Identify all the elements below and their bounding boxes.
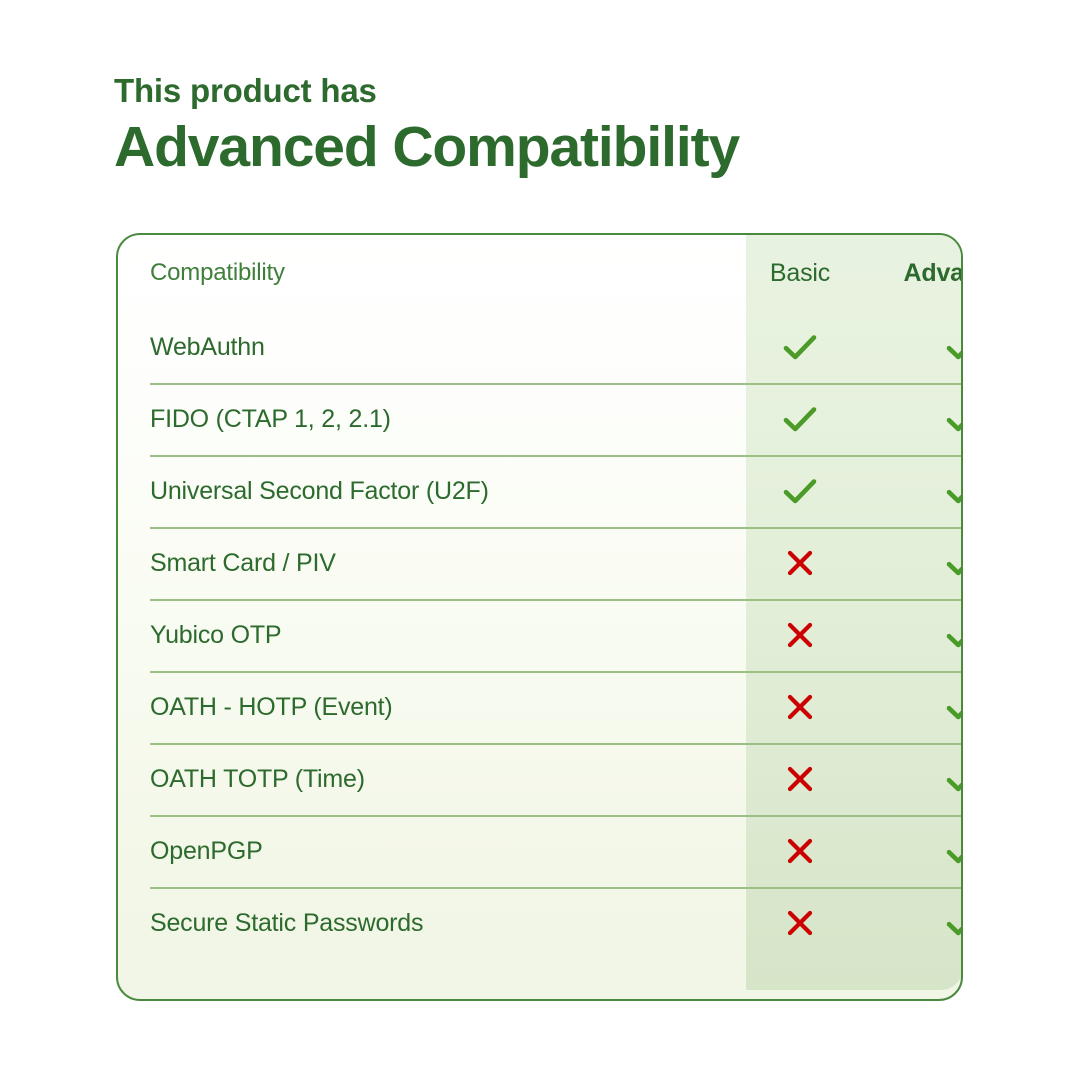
compatibility-table: CompatibilityBasicAdvancedWebAuthnFIDO (…	[118, 235, 961, 1001]
cross-icon	[786, 549, 814, 577]
table-row: WebAuthn	[118, 311, 961, 383]
cell-advanced-check	[854, 837, 963, 865]
table-bottom-spacer	[118, 959, 961, 1001]
cell-advanced-check	[854, 765, 963, 793]
row-feature-label: FIDO (CTAP 1, 2, 2.1)	[118, 405, 714, 434]
heading-block: This product has Advanced Compatibility	[114, 72, 994, 180]
row-feature-label: Smart Card / PIV	[118, 549, 714, 578]
table-row: OpenPGP	[118, 815, 961, 887]
cell-advanced-check	[854, 333, 963, 361]
cross-icon	[786, 909, 814, 937]
table-header-row: CompatibilityBasicAdvanced	[118, 235, 961, 311]
cell-advanced-check	[854, 549, 963, 577]
cell-basic-cross	[746, 621, 854, 649]
compatibility-table-card: CompatibilityBasicAdvancedWebAuthnFIDO (…	[116, 233, 963, 1001]
cross-icon	[786, 621, 814, 649]
table-row: Secure Static Passwords	[118, 887, 961, 959]
table-row: Universal Second Factor (U2F)	[118, 455, 961, 527]
check-icon	[946, 333, 964, 361]
cell-basic-cross	[746, 549, 854, 577]
table-row: OATH TOTP (Time)	[118, 743, 961, 815]
row-feature-label: OATH - HOTP (Event)	[118, 693, 714, 722]
check-icon	[946, 477, 964, 505]
cell-basic-cross	[746, 693, 854, 721]
page-title: Advanced Compatibility	[114, 116, 994, 180]
cell-basic-check	[746, 333, 854, 361]
row-feature-label: Yubico OTP	[118, 621, 714, 650]
compatibility-infographic: This product has Advanced Compatibility …	[0, 0, 1080, 1080]
check-icon	[946, 765, 964, 793]
cross-icon	[786, 837, 814, 865]
table-row: FIDO (CTAP 1, 2, 2.1)	[118, 383, 961, 455]
cell-basic-check	[746, 477, 854, 505]
cell-advanced-check	[854, 477, 963, 505]
cross-icon	[786, 693, 814, 721]
table-row: OATH - HOTP (Event)	[118, 671, 961, 743]
row-feature-label: Secure Static Passwords	[118, 909, 714, 938]
check-icon	[946, 549, 964, 577]
cell-advanced-check	[854, 909, 963, 937]
row-feature-label: OATH TOTP (Time)	[118, 765, 714, 794]
check-icon	[946, 621, 964, 649]
check-icon	[946, 405, 964, 433]
cell-advanced-check	[854, 693, 963, 721]
cell-basic-cross	[746, 765, 854, 793]
check-icon	[946, 909, 964, 937]
check-icon	[783, 477, 817, 505]
table-row: Smart Card / PIV	[118, 527, 961, 599]
row-feature-label: Universal Second Factor (U2F)	[118, 477, 714, 506]
cell-basic-cross	[746, 837, 854, 865]
check-icon	[946, 837, 964, 865]
table-row: Yubico OTP	[118, 599, 961, 671]
cross-icon	[786, 765, 814, 793]
row-feature-label: WebAuthn	[118, 333, 714, 362]
cell-advanced-check	[854, 621, 963, 649]
column-header-basic: Basic	[746, 259, 854, 288]
check-icon	[946, 693, 964, 721]
column-header-feature: Compatibility	[118, 259, 714, 287]
cell-basic-cross	[746, 909, 854, 937]
column-header-advanced: Advanced	[854, 259, 963, 288]
check-icon	[783, 333, 817, 361]
row-feature-label: OpenPGP	[118, 837, 714, 866]
check-icon	[783, 405, 817, 433]
cell-basic-check	[746, 405, 854, 433]
eyebrow-text: This product has	[114, 72, 994, 110]
cell-advanced-check	[854, 405, 963, 433]
